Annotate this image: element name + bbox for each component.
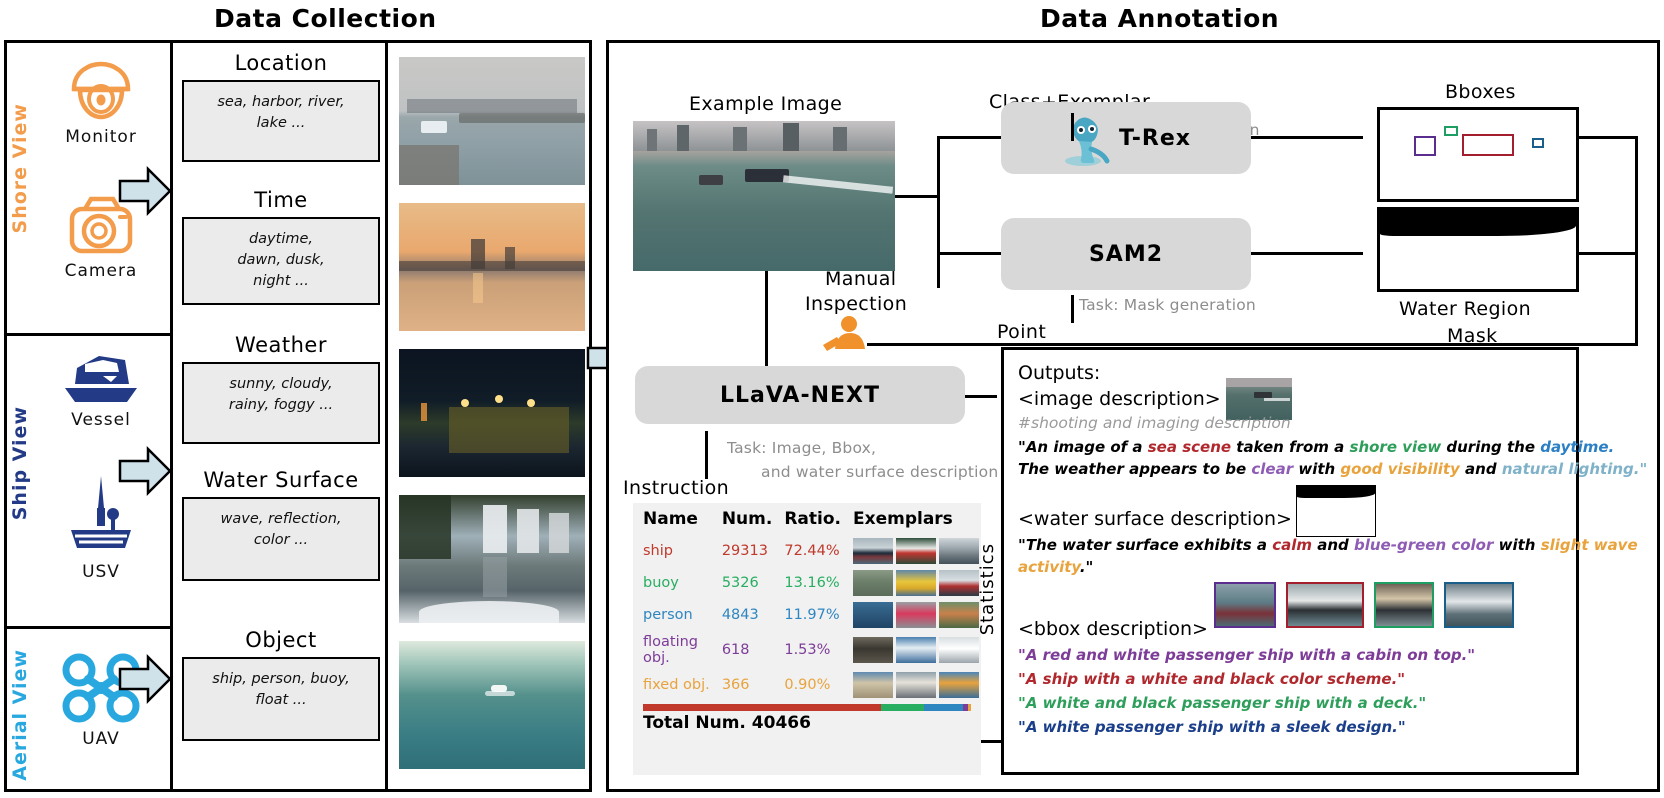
page-title-data-annotation: Data Annotation [1040, 4, 1279, 33]
water-description-tag: <water surface description> [1018, 508, 1292, 530]
rich-text-segment: during the [1441, 438, 1540, 456]
cell-num: 618 [712, 631, 775, 669]
page-title-data-collection: Data Collection [214, 4, 437, 33]
outputs-frame: Outputs: <image description> #shooting a… [1001, 347, 1579, 775]
data-annotation-panel: Example Image Class+Exemplar Task: Bbox … [606, 40, 1660, 792]
rich-text-segment: daytime. [1540, 438, 1614, 456]
exemplar-thumbnail [896, 602, 936, 628]
sensor-label-uav: UAV [39, 729, 163, 749]
rich-text-segment: and [1460, 460, 1502, 478]
water-mask-shape [1380, 210, 1576, 236]
conn-to-sam2 [937, 252, 1001, 255]
conn-example-to-llava [765, 271, 768, 366]
node-sam2-label: SAM2 [1089, 242, 1163, 267]
water-mask-output-frame [1377, 207, 1579, 292]
image-description-line-2: The weather appears to be clear with goo… [1018, 460, 1647, 478]
rich-text-segment: and [1312, 536, 1354, 554]
ratio-bar-segment [643, 704, 881, 711]
conn-vert-split [937, 138, 940, 288]
statistics-panel: Name Num. Ratio. Exemplars ship2931372.4… [633, 503, 981, 775]
cell-exemplars [843, 669, 981, 701]
image-description-tag: <image description> [1018, 388, 1221, 410]
attribute-head-object: Object [182, 628, 380, 652]
rich-text-segment: clear [1251, 460, 1293, 478]
bbox-blue [1532, 138, 1544, 148]
exemplar-thumbnail [853, 570, 893, 596]
rich-text-segment: with [1293, 460, 1340, 478]
attribute-box-location: sea, harbor, river, lake ... [182, 80, 380, 162]
bbox-description-line: "A ship with a white and black color sch… [1018, 670, 1405, 688]
cell-num: 5326 [712, 567, 775, 599]
rich-text-segment: shore view [1350, 438, 1442, 456]
sensor-vessel: Vessel [39, 346, 163, 430]
attribute-head-water-surface: Water Surface [182, 468, 380, 492]
node-trex-label: T-Rex [1119, 126, 1191, 151]
ratio-bar [643, 704, 971, 711]
col-header-name: Name [633, 503, 712, 535]
flow-arrow-ship [118, 443, 174, 499]
exemplar-thumbnail [939, 538, 979, 564]
view-label-shore: Shore View [9, 103, 31, 233]
attribute-head-weather: Weather [182, 333, 380, 357]
bbox-thumb-3 [1374, 582, 1434, 628]
table-row: floating obj.6181.53% [633, 631, 981, 669]
exemplar-thumbnail [939, 570, 979, 596]
node-trex[interactable]: T-Rex [1001, 102, 1251, 174]
view-label-ship: Ship View [9, 406, 31, 520]
attribute-box-time: daytime, dawn, dusk, night ... [182, 217, 380, 305]
bbox-description-line: "A white passenger ship with a sleek des… [1018, 718, 1406, 736]
conn-instruction [705, 431, 708, 479]
exemplar-thumbnail [939, 672, 979, 698]
cell-exemplars [843, 599, 981, 631]
point-label: Point [997, 321, 1046, 343]
rich-text-segment: sea scene [1148, 438, 1231, 456]
statistics-table: Name Num. Ratio. Exemplars ship2931372.4… [633, 503, 981, 701]
sensor-label-vessel: Vessel [39, 410, 163, 430]
cell-ratio: 1.53% [774, 631, 843, 669]
exemplar-thumbnail [853, 672, 893, 698]
attribute-group-water-surface: Water Surface wave, reflection, color ..… [182, 468, 380, 581]
photo-river-reflection [399, 495, 585, 623]
water-description-line-1: "The water surface exhibits a calm and b… [1018, 536, 1638, 554]
conn-right-return-vert [1635, 136, 1638, 346]
sensor-label-usv: USV [39, 562, 163, 582]
exemplar-thumbnail [939, 637, 979, 663]
col-header-ratio: Ratio. [774, 503, 843, 535]
table-row: ship2931372.44% [633, 535, 981, 567]
conn-right-return-mid [1579, 252, 1637, 255]
exemplar-thumbnail [896, 538, 936, 564]
attribute-box-water-surface: wave, reflection, color ... [182, 497, 380, 581]
instruction-label: Instruction [623, 477, 729, 499]
exemplar-thumbnail [853, 538, 893, 564]
total-value: 40466 [752, 713, 811, 733]
image-description-line-1: "An image of a sea scene taken from a sh… [1018, 438, 1614, 456]
total-row: Total Num. 40466 [633, 713, 981, 733]
node-llava-label: LLaVA-NEXT [720, 383, 880, 408]
flow-arrow-shore [118, 163, 174, 219]
rich-text-segment: good visibility [1340, 460, 1459, 478]
total-label: Total Num. [643, 713, 746, 733]
conn-point [1071, 295, 1074, 323]
cell-ratio: 0.90% [774, 669, 843, 701]
task-llava-line1: Task: Image, Bbox, [727, 439, 876, 457]
ratio-bar-segment [968, 704, 971, 711]
attribute-head-location: Location [182, 51, 380, 75]
cell-ratio: 11.97% [774, 599, 843, 631]
conn-sam2-mask [1251, 252, 1363, 255]
table-row: buoy532613.16% [633, 567, 981, 599]
vessel-icon [59, 346, 143, 408]
sensor-monitor: Monitor [39, 59, 163, 147]
bboxes-output-frame [1377, 107, 1579, 202]
attribute-column: Location sea, harbor, river, lake ... Ti… [176, 43, 388, 789]
sensor-label-monitor: Monitor [39, 127, 163, 147]
exemplar-thumbnail [853, 637, 893, 663]
conn-example-split [895, 195, 937, 198]
conn-llava-outputs [965, 395, 997, 398]
rich-text-segment: The weather appears to be [1018, 460, 1251, 478]
task-llava-line2: and water surface description [761, 463, 998, 481]
water-mask-label-line1: Water Region [1399, 298, 1531, 320]
rich-text-segment: "The water surface exhibits a [1018, 536, 1272, 554]
table-row: person484311.97% [633, 599, 981, 631]
bbox-green [1444, 126, 1458, 136]
exemplar-thumbnail [896, 672, 936, 698]
attribute-group-weather: Weather sunny, cloudy, rainy, foggy ... [182, 333, 380, 444]
rich-text-segment: natural lighting." [1502, 460, 1647, 478]
data-collection-panel: Shore View Monitor [4, 40, 592, 792]
rich-text-segment: "An image of a [1018, 438, 1148, 456]
conn-to-trex [937, 136, 1001, 139]
photo-column [391, 43, 592, 789]
conn-return-to-inspection [867, 343, 1637, 346]
conn-trex-bbox [1251, 136, 1363, 139]
ratio-bar-segment [881, 704, 924, 711]
cell-num: 4843 [712, 599, 775, 631]
cell-name: ship [633, 535, 712, 567]
col-header-num: Num. [712, 503, 775, 535]
sensor-label-camera: Camera [39, 261, 163, 281]
attribute-group-object: Object ship, person, buoy, float ... [182, 628, 380, 741]
conn-class-exemplar [1071, 113, 1074, 141]
bbox-red [1462, 134, 1514, 156]
example-image-label: Example Image [689, 93, 842, 115]
attribute-group-time: Time daytime, dawn, dusk, night ... [182, 188, 380, 305]
bbox-purple [1414, 136, 1436, 156]
cell-ratio: 72.44% [774, 535, 843, 567]
attribute-box-weather: sunny, cloudy, rainy, foggy ... [182, 362, 380, 444]
rich-text-segment: slight wave [1541, 536, 1638, 554]
dome-camera-icon [64, 59, 138, 125]
attribute-head-time: Time [182, 188, 380, 212]
bbox-thumb-2 [1286, 582, 1364, 628]
cell-name: floating obj. [633, 631, 712, 669]
cell-name: person [633, 599, 712, 631]
ratio-bar-segment [924, 704, 963, 711]
statistics-axis-label: Statistics [977, 543, 998, 635]
rich-text-segment: taken from a [1231, 438, 1349, 456]
cell-name: buoy [633, 567, 712, 599]
exemplar-thumbnail [896, 570, 936, 596]
flow-arrow-aerial [118, 651, 174, 707]
bbox-thumb-1 [1214, 582, 1276, 628]
task-mask-generation-label: Task: Mask generation [1079, 296, 1256, 314]
bbox-thumb-4 [1444, 582, 1514, 628]
bbox-description-line: "A white and black passenger ship with a… [1018, 694, 1426, 712]
cell-num: 29313 [712, 535, 775, 567]
node-llava-next[interactable]: LLaVA-NEXT [635, 366, 965, 424]
cell-exemplars [843, 535, 981, 567]
cell-exemplars [843, 567, 981, 599]
rich-text-segment: activity [1018, 558, 1080, 576]
rich-text-segment: ." [1080, 558, 1094, 576]
node-sam2[interactable]: SAM2 [1001, 218, 1251, 290]
inspector-person-icon [821, 315, 873, 351]
cell-ratio: 13.16% [774, 567, 843, 599]
attribute-group-location: Location sea, harbor, river, lake ... [182, 51, 380, 162]
photo-ship-night [399, 349, 585, 477]
example-image [633, 121, 895, 271]
attribute-box-object: ship, person, buoy, float ... [182, 657, 380, 741]
conn-statistics [981, 740, 1001, 743]
water-description-line-2: activity." [1018, 558, 1093, 576]
exemplar-thumbnail [939, 602, 979, 628]
table-row: fixed obj.3660.90% [633, 669, 981, 701]
photo-river-dawn [399, 203, 585, 331]
photo-harbor-daytime [399, 57, 585, 185]
exemplar-thumbnail [896, 637, 936, 663]
manual-inspection-label-line2: Inspection [805, 293, 907, 315]
exemplar-thumbnail [853, 602, 893, 628]
table-header-row: Name Num. Ratio. Exemplars [633, 503, 981, 535]
conn-right-return-top [1579, 136, 1637, 139]
bboxes-label: Bboxes [1445, 81, 1516, 103]
outputs-heading: Outputs: [1018, 362, 1100, 384]
cell-name: fixed obj. [633, 669, 712, 701]
manual-inspection-label-line1: Manual [825, 268, 896, 290]
view-label-aerial: Aerial View [9, 649, 31, 781]
water-description-mask-thumb [1296, 485, 1376, 537]
cell-num: 366 [712, 669, 775, 701]
shooting-comment: #shooting and imaging description [1018, 414, 1291, 432]
bbox-description-tag: <bbox description> [1018, 618, 1208, 640]
col-header-exemplars: Exemplars [843, 503, 981, 535]
bbox-description-line: "A red and white passenger ship with a c… [1018, 646, 1475, 664]
rich-text-segment: blue-green color [1354, 536, 1493, 554]
rich-text-segment: calm [1272, 536, 1312, 554]
rich-text-segment: with [1493, 536, 1540, 554]
trex-mascot-icon [1061, 109, 1111, 167]
cell-exemplars [843, 631, 981, 669]
photo-aerial-sea [399, 641, 585, 769]
